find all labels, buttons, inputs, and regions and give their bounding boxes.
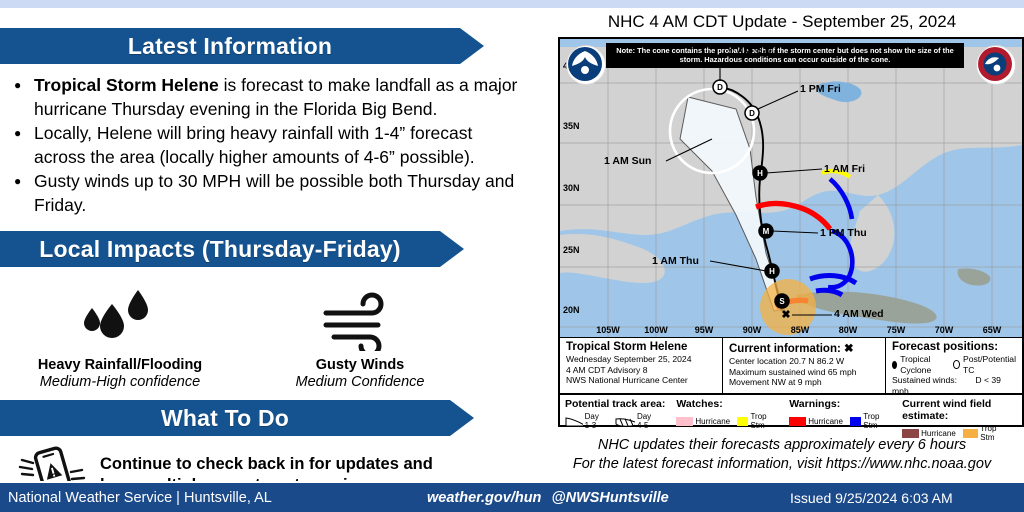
legend-wind-tropstm: Trop Stm	[963, 424, 1010, 442]
lat-label: 35N	[563, 121, 580, 131]
lat-label: 25N	[563, 245, 580, 255]
forecast-positions-column: Forecast positions: Tropical Cyclone Pos…	[886, 338, 1022, 394]
banner-arrow-tip-icon	[450, 400, 474, 436]
warning-hurricane-label: Hurricane	[808, 417, 843, 426]
lon-label: 105W	[596, 325, 620, 335]
legend-warning-tropstm: Trop Stm	[850, 412, 885, 430]
map-legend: Potential track area: Day 1-3	[560, 393, 1022, 425]
storm-date: Wednesday September 25, 2024	[566, 354, 716, 365]
lat-label: 20N	[563, 305, 580, 315]
legend-wind-hurricane: Hurricane	[902, 429, 956, 438]
map-column: NHC 4 AM CDT Update - September 25, 2024	[540, 8, 1024, 483]
warning-tropstm-label: Trop Stm	[863, 412, 885, 430]
current-center-location: Center location 20.7 N 86.2 W	[729, 356, 879, 367]
impacts-row: Heavy Rainfall/Flooding Medium-High conf…	[0, 279, 540, 390]
track-time-label: 4 AM Wed	[834, 308, 884, 320]
map-title: NHC 4 AM CDT Update - September 25, 2024	[540, 12, 1024, 32]
cone-day45-icon	[614, 416, 635, 427]
left-content-column: Latest Information Tropical Storm Helene…	[0, 8, 540, 483]
banner-local-impacts-label: Local Impacts (Thursday-Friday)	[39, 236, 401, 263]
bullet-body-text: Locally, Helene will bring heavy rainfal…	[34, 123, 475, 167]
footer-social-handle[interactable]: @NWSHuntsville	[551, 490, 668, 506]
list-item: Tropical Storm Helene is forecast to mak…	[34, 74, 524, 121]
cone-day13-icon	[565, 416, 583, 427]
legend-warnings: Warnings: Hurricane Trop Stm	[789, 398, 902, 425]
noaa-logo	[566, 45, 606, 85]
current-movement: Movement NW at 9 mph	[729, 377, 879, 388]
watch-tropstm-swatch	[737, 417, 748, 426]
lat-label: 30N	[563, 183, 580, 193]
watch-hurricane-swatch	[676, 417, 693, 426]
wind-hurricane-label: Hurricane	[921, 429, 956, 438]
banner-what-to-do-label: What To Do	[161, 405, 289, 432]
storm-info-panel: Tropical Storm Helene Wednesday Septembe…	[560, 337, 1022, 394]
svg-text:✖: ✖	[781, 309, 790, 321]
latest-information-bullets: Tropical Storm Helene is forecast to mak…	[0, 74, 540, 217]
track-time-label: 1 AM Thu	[652, 255, 699, 267]
legend-day-4-5-label: Day 4-5	[637, 412, 659, 430]
banner-local-impacts: Local Impacts (Thursday-Friday)	[0, 231, 440, 267]
track-time-label: 1 AM Sat	[728, 47, 772, 59]
wind-tropstm-label: Trop Stm	[980, 424, 1010, 442]
warning-tropstm-swatch	[850, 417, 861, 426]
footer-issued-time: Issued 9/25/2024 6:03 AM	[790, 490, 953, 506]
list-item: Locally, Helene will bring heavy rainfal…	[34, 122, 524, 169]
storm-name: Tropical Storm Helene	[566, 341, 716, 353]
raindrops-icon	[0, 279, 240, 357]
footer-links: weather.gov/hun @NWSHuntsville	[427, 490, 675, 506]
track-time-label: 1 PM Thu	[820, 227, 867, 239]
track-time-label: 1 AM Sun	[604, 155, 651, 167]
footer-website-link[interactable]: weather.gov/hun	[427, 490, 541, 506]
map-graphic-area: D D H M H S ✖	[560, 39, 1022, 337]
lon-label: 100W	[644, 325, 668, 335]
banner-arrow-tip-icon	[440, 231, 464, 267]
filled-circle-icon	[892, 361, 897, 369]
warning-hurricane-swatch	[789, 417, 806, 426]
legend-watches-heading: Watches:	[676, 398, 779, 410]
forecast-positions-heading: Forecast positions:	[892, 341, 1016, 353]
svg-text:H: H	[757, 169, 763, 178]
sustained-winds-label: Sustained winds:	[892, 375, 957, 385]
wind-icon	[240, 279, 480, 357]
footer-bar: National Weather Service | Huntsville, A…	[0, 481, 1024, 512]
forecast-tropical-cyclone-label: Tropical Cyclone	[900, 354, 941, 375]
legend-wind-heading: Current wind field estimate:	[902, 398, 1017, 422]
nhc-forecast-cone-map: D D H M H S ✖	[558, 37, 1024, 427]
cone-note-banner: Note: The cone contains the probable pat…	[606, 43, 964, 68]
track-time-label: 1 AM Fri	[824, 163, 865, 175]
legend-day-1-3: Day 1-3	[565, 412, 607, 430]
legend-watch-tropstm: Trop Stm	[737, 412, 772, 430]
list-item: Gusty winds up to 30 MPH will be possibl…	[34, 170, 524, 217]
top-accent-strip	[0, 0, 1024, 8]
watch-tropstm-label: Trop Stm	[750, 412, 772, 430]
bullet-lead-text: Tropical Storm Helene	[34, 75, 219, 95]
forecast-symbols-row: Tropical Cyclone Post/Potential TC	[892, 354, 1016, 375]
legend-warning-hurricane: Hurricane	[789, 417, 843, 426]
impact-label: Heavy Rainfall/Flooding	[0, 357, 240, 373]
what-to-do-line-1: Continue to check back in for updates an…	[100, 454, 433, 475]
impact-label: Gusty Winds	[240, 357, 480, 373]
svg-text:H: H	[769, 267, 775, 276]
watch-hurricane-label: Hurricane	[695, 417, 730, 426]
current-max-wind: Maximum sustained wind 65 mph	[729, 367, 879, 378]
lon-label: 95W	[695, 325, 714, 335]
lon-label: 70W	[935, 325, 954, 335]
impact-heavy-rainfall: Heavy Rainfall/Flooding Medium-High conf…	[0, 279, 240, 390]
track-time-label: 1 PM Fri	[800, 83, 841, 95]
banner-arrow-tip-icon	[460, 28, 484, 64]
legend-warnings-heading: Warnings:	[789, 398, 892, 410]
wind-hurricane-swatch	[902, 429, 919, 438]
bullet-body-text: Gusty winds up to 30 MPH will be possibl…	[34, 171, 514, 215]
lon-label: 80W	[839, 325, 858, 335]
legend-wind-field: Current wind field estimate: Hurricane T…	[902, 398, 1017, 425]
map-note-line-2: For the latest forecast information, vis…	[540, 455, 1024, 474]
banner-latest-label: Latest Information	[128, 33, 332, 60]
legend-track-heading: Potential track area:	[565, 398, 666, 410]
forecast-post-tc-label: Post/Potential TC	[963, 354, 1016, 375]
wind-tropstm-swatch	[963, 429, 979, 438]
current-information-column: Current information: ✖ Center location 2…	[723, 338, 886, 394]
legend-potential-track: Potential track area: Day 1-3	[565, 398, 676, 425]
lon-label: 65W	[983, 325, 1002, 335]
legend-watch-hurricane: Hurricane	[676, 417, 730, 426]
legend-day-4-5: Day 4-5	[614, 412, 659, 430]
impact-gusty-winds: Gusty Winds Medium Confidence	[240, 279, 480, 390]
nws-logo	[976, 45, 1016, 85]
legend-watches: Watches: Hurricane Trop Stm	[676, 398, 789, 425]
lon-label: 85W	[791, 325, 810, 335]
banner-latest-information: Latest Information	[0, 28, 460, 64]
banner-what-to-do: What To Do	[0, 400, 450, 436]
storm-identity-column: Tropical Storm Helene Wednesday Septembe…	[560, 338, 723, 394]
legend-day-1-3-label: Day 1-3	[585, 412, 607, 430]
svg-text:D: D	[717, 83, 723, 92]
impact-confidence: Medium Confidence	[240, 374, 480, 390]
open-circle-icon	[953, 360, 960, 369]
storm-office: NWS National Hurricane Center	[566, 375, 716, 386]
impact-confidence: Medium-High confidence	[0, 374, 240, 390]
current-information-heading: Current information: ✖	[729, 341, 879, 355]
svg-text:S: S	[779, 297, 785, 306]
footer-office: National Weather Service | Huntsville, A…	[8, 490, 272, 506]
svg-text:D: D	[749, 109, 755, 118]
lon-label: 90W	[743, 325, 762, 335]
lon-label: 75W	[887, 325, 906, 335]
svg-text:M: M	[763, 227, 770, 236]
storm-advisory: 4 AM CDT Advisory 8	[566, 365, 716, 376]
